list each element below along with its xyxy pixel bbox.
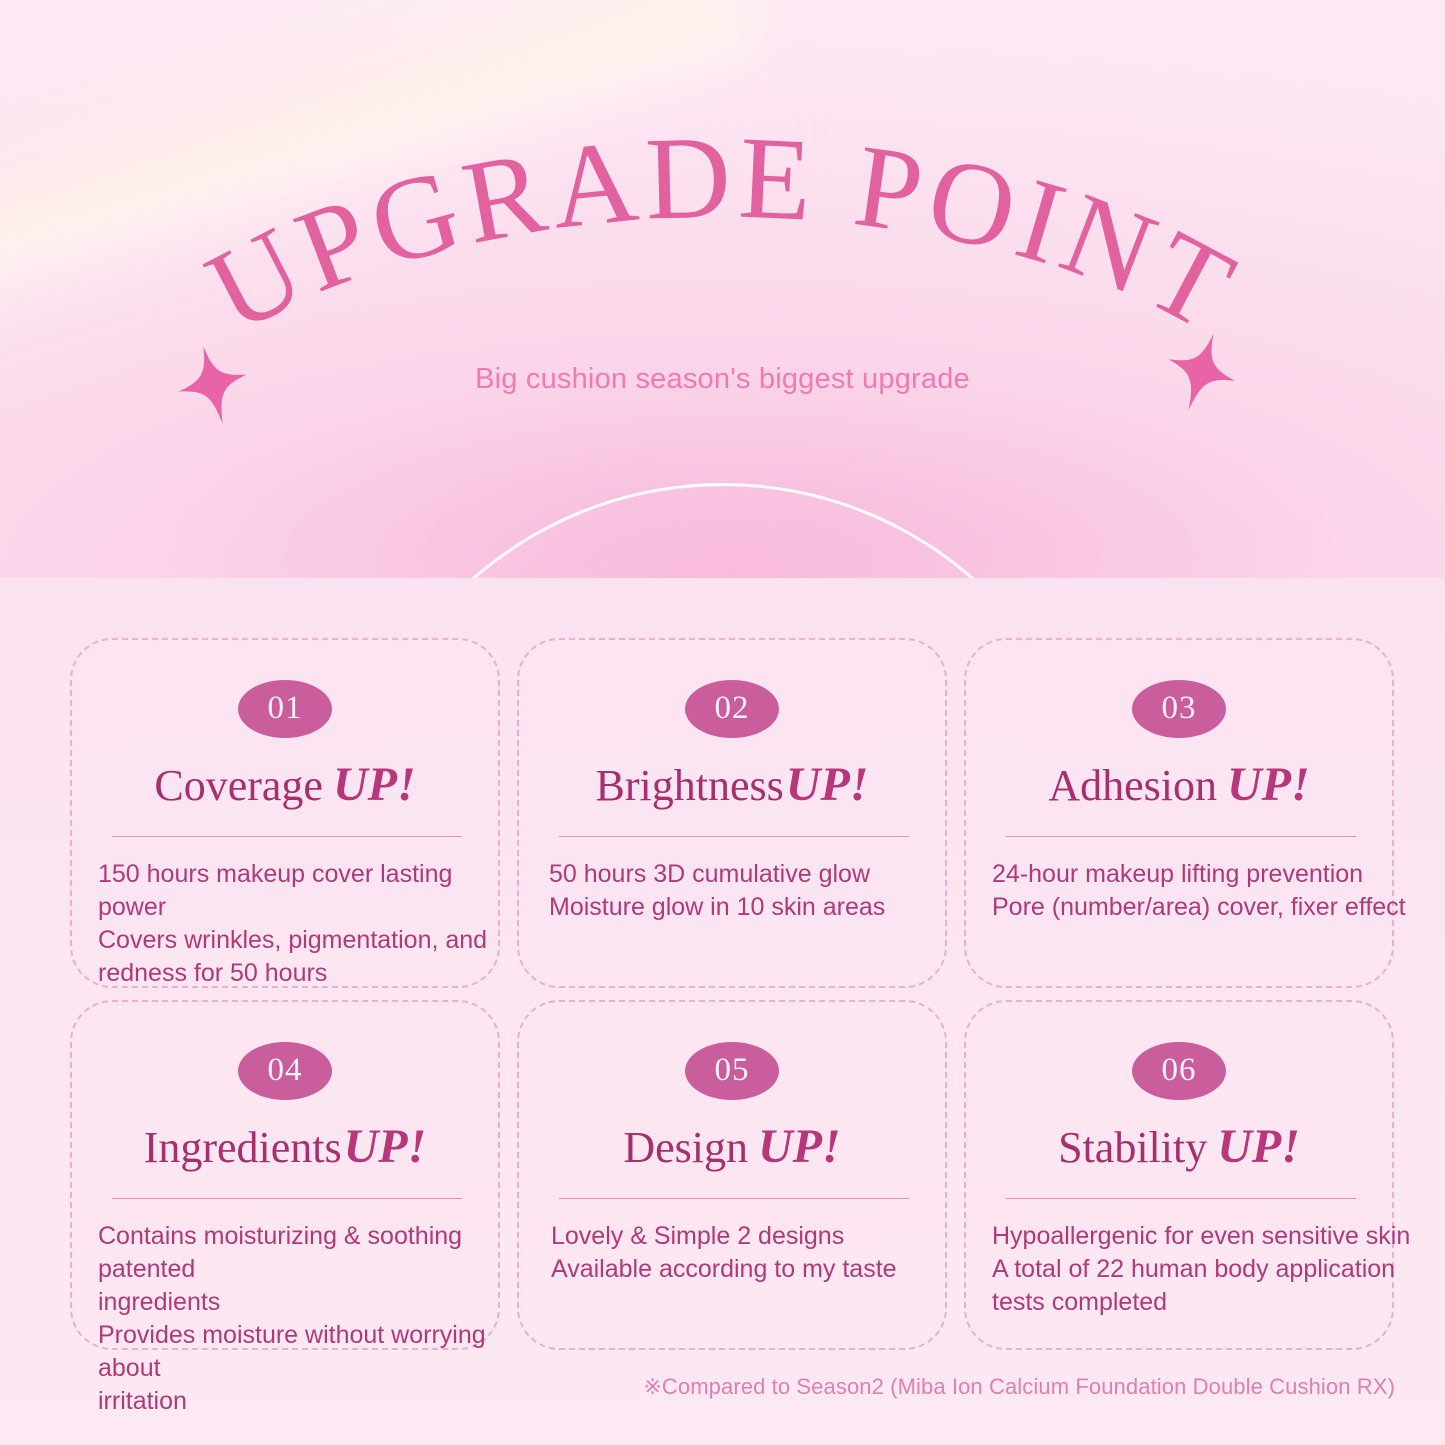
card-body-text: 24-hour makeup lifting prevention Pore (… <box>992 858 1420 924</box>
card-title: AdhesionUP! <box>966 756 1392 814</box>
card-number-label: 06 <box>1162 1054 1197 1089</box>
promo-page: UPGRADE POINT Big cushion season's bigge… <box>0 0 1445 1445</box>
upgrade-card-03[interactable]: 03 AdhesionUP! 24-hour makeup lifting pr… <box>964 638 1394 988</box>
card-title-text: Design <box>623 1123 748 1172</box>
card-body-text: 150 hours makeup cover lasting power Cov… <box>98 858 526 990</box>
header-subtitle: Big cushion season's biggest upgrade <box>0 363 1445 396</box>
card-title: BrightnessUP! <box>519 756 945 814</box>
arched-title-text: UPGRADE POINT <box>188 111 1259 357</box>
card-title-text: Stability <box>1058 1123 1207 1172</box>
card-number-label: 04 <box>268 1054 303 1089</box>
card-divider <box>112 1198 462 1199</box>
card-title-up: UP! <box>784 758 869 811</box>
card-divider <box>1006 1198 1356 1199</box>
card-body-text: 50 hours 3D cumulative glow Moisture glo… <box>549 858 961 924</box>
card-number-label: 02 <box>715 692 750 727</box>
card-number-label: 01 <box>268 692 303 727</box>
card-divider <box>559 836 909 837</box>
card-divider <box>1006 836 1356 837</box>
card-body-text: Hypoallergenic for even sensitive skin A… <box>992 1220 1420 1319</box>
card-number-label: 03 <box>1162 692 1197 727</box>
card-number-badge: 03 <box>1132 680 1226 738</box>
card-title: IngredientsUP! <box>72 1118 498 1176</box>
card-title-text: Coverage <box>154 761 323 810</box>
card-title-up: UP! <box>342 1120 427 1173</box>
card-grid: 01 CoverageUP! 150 hours makeup cover la… <box>70 638 1395 1350</box>
upgrade-card-04[interactable]: 04 IngredientsUP! Contains moisturizing … <box>70 1000 500 1350</box>
card-number-badge: 06 <box>1132 1042 1226 1100</box>
card-title: StabilityUP! <box>966 1118 1392 1176</box>
card-title-up: UP! <box>1207 1120 1300 1173</box>
card-title: CoverageUP! <box>72 756 498 814</box>
upgrade-card-06[interactable]: 06 StabilityUP! Hypoallergenic for even … <box>964 1000 1394 1350</box>
card-body-text: Lovely & Simple 2 designs Available acco… <box>551 1220 931 1286</box>
card-title-up: UP! <box>1217 758 1310 811</box>
card-title-up: UP! <box>323 758 416 811</box>
card-title-up: UP! <box>748 1120 841 1173</box>
card-number-badge: 02 <box>685 680 779 738</box>
card-divider <box>559 1198 909 1199</box>
card-title-text: Adhesion <box>1048 761 1217 810</box>
card-divider <box>112 836 462 837</box>
dome-circle-decoration <box>343 483 1103 578</box>
upgrade-card-02[interactable]: 02 BrightnessUP! 50 hours 3D cumulative … <box>517 638 947 988</box>
card-number-badge: 05 <box>685 1042 779 1100</box>
upgrade-points-section: 01 CoverageUP! 150 hours makeup cover la… <box>0 578 1445 1445</box>
header-banner: UPGRADE POINT Big cushion season's bigge… <box>0 0 1445 578</box>
footnote-disclaimer: ※Compared to Season2 (Miba Ion Calcium F… <box>0 1374 1445 1400</box>
card-title-text: Ingredients <box>144 1123 342 1172</box>
card-number-badge: 01 <box>238 680 332 738</box>
card-number-label: 05 <box>715 1054 750 1089</box>
upgrade-card-05[interactable]: 05 DesignUP! Lovely & Simple 2 designs A… <box>517 1000 947 1350</box>
upgrade-card-01[interactable]: 01 CoverageUP! 150 hours makeup cover la… <box>70 638 500 988</box>
card-title-text: Brightness <box>596 761 784 810</box>
card-title: DesignUP! <box>519 1118 945 1176</box>
card-number-badge: 04 <box>238 1042 332 1100</box>
